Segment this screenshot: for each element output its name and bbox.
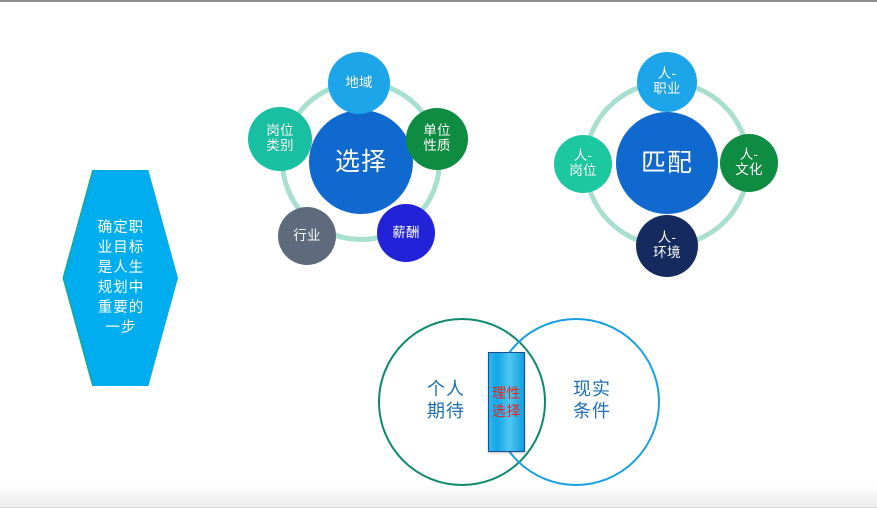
- venn-label-left: 个人 期待: [404, 378, 488, 422]
- venn-intersection-box[interactable]: 理性 选择: [488, 352, 525, 452]
- match-node-person-career[interactable]: 人- 职业: [637, 52, 697, 112]
- choice-node-salary-label: 薪酬: [392, 226, 420, 241]
- choice-node-post-category-label: 岗位 类别: [266, 124, 294, 153]
- bottom-gradient-band: [0, 486, 877, 508]
- match-node-person-post-label: 人- 岗位: [569, 149, 597, 178]
- match-node-person-post[interactable]: 人- 岗位: [554, 135, 612, 193]
- match-node-person-culture[interactable]: 人- 文化: [720, 134, 778, 192]
- choice-hub-label: 选择: [335, 149, 387, 176]
- choice-node-industry-label: 行业: [293, 229, 321, 244]
- callout-hexagon[interactable]: 确定职 业目标 是人生 规划中 重要的 一步: [64, 170, 178, 386]
- choice-node-post-category[interactable]: 岗位 类别: [248, 107, 312, 171]
- match-hub-node[interactable]: 匹配: [616, 112, 718, 214]
- match-node-person-career-label: 人- 职业: [653, 67, 681, 96]
- top-divider-rule: [0, 0, 877, 2]
- venn-diagram: 个人 期待 现实 条件 理性 选择: [378, 318, 660, 486]
- match-hub-label: 匹配: [641, 150, 693, 177]
- venn-intersection-label: 理性 选择: [492, 384, 521, 420]
- match-node-person-environment[interactable]: 人- 环境: [636, 215, 698, 277]
- match-node-person-environment-label: 人- 环境: [653, 231, 681, 260]
- match-node-person-culture-label: 人- 文化: [735, 148, 763, 177]
- choice-node-region[interactable]: 地域: [328, 52, 390, 114]
- diagram-match: 匹配 人- 职业 人- 文化 人- 环境 人- 岗位: [548, 52, 782, 284]
- diagram-choice: 选择 地域 单位 性质 薪酬 行业 岗位 类别: [248, 52, 474, 276]
- choice-node-unit-nature-label: 单位 性质: [423, 124, 451, 153]
- choice-hub-node[interactable]: 选择: [309, 110, 413, 214]
- slide-canvas: 确定职 业目标 是人生 规划中 重要的 一步 选择 地域 单位 性质 薪酬 行业…: [0, 0, 877, 508]
- choice-node-salary[interactable]: 薪酬: [377, 204, 435, 262]
- choice-node-region-label: 地域: [345, 76, 373, 91]
- choice-node-industry[interactable]: 行业: [278, 207, 336, 265]
- venn-label-right: 现实 条件: [550, 378, 634, 422]
- choice-node-unit-nature[interactable]: 单位 性质: [406, 108, 468, 170]
- callout-hexagon-label: 确定职 业目标 是人生 规划中 重要的 一步: [64, 218, 178, 338]
